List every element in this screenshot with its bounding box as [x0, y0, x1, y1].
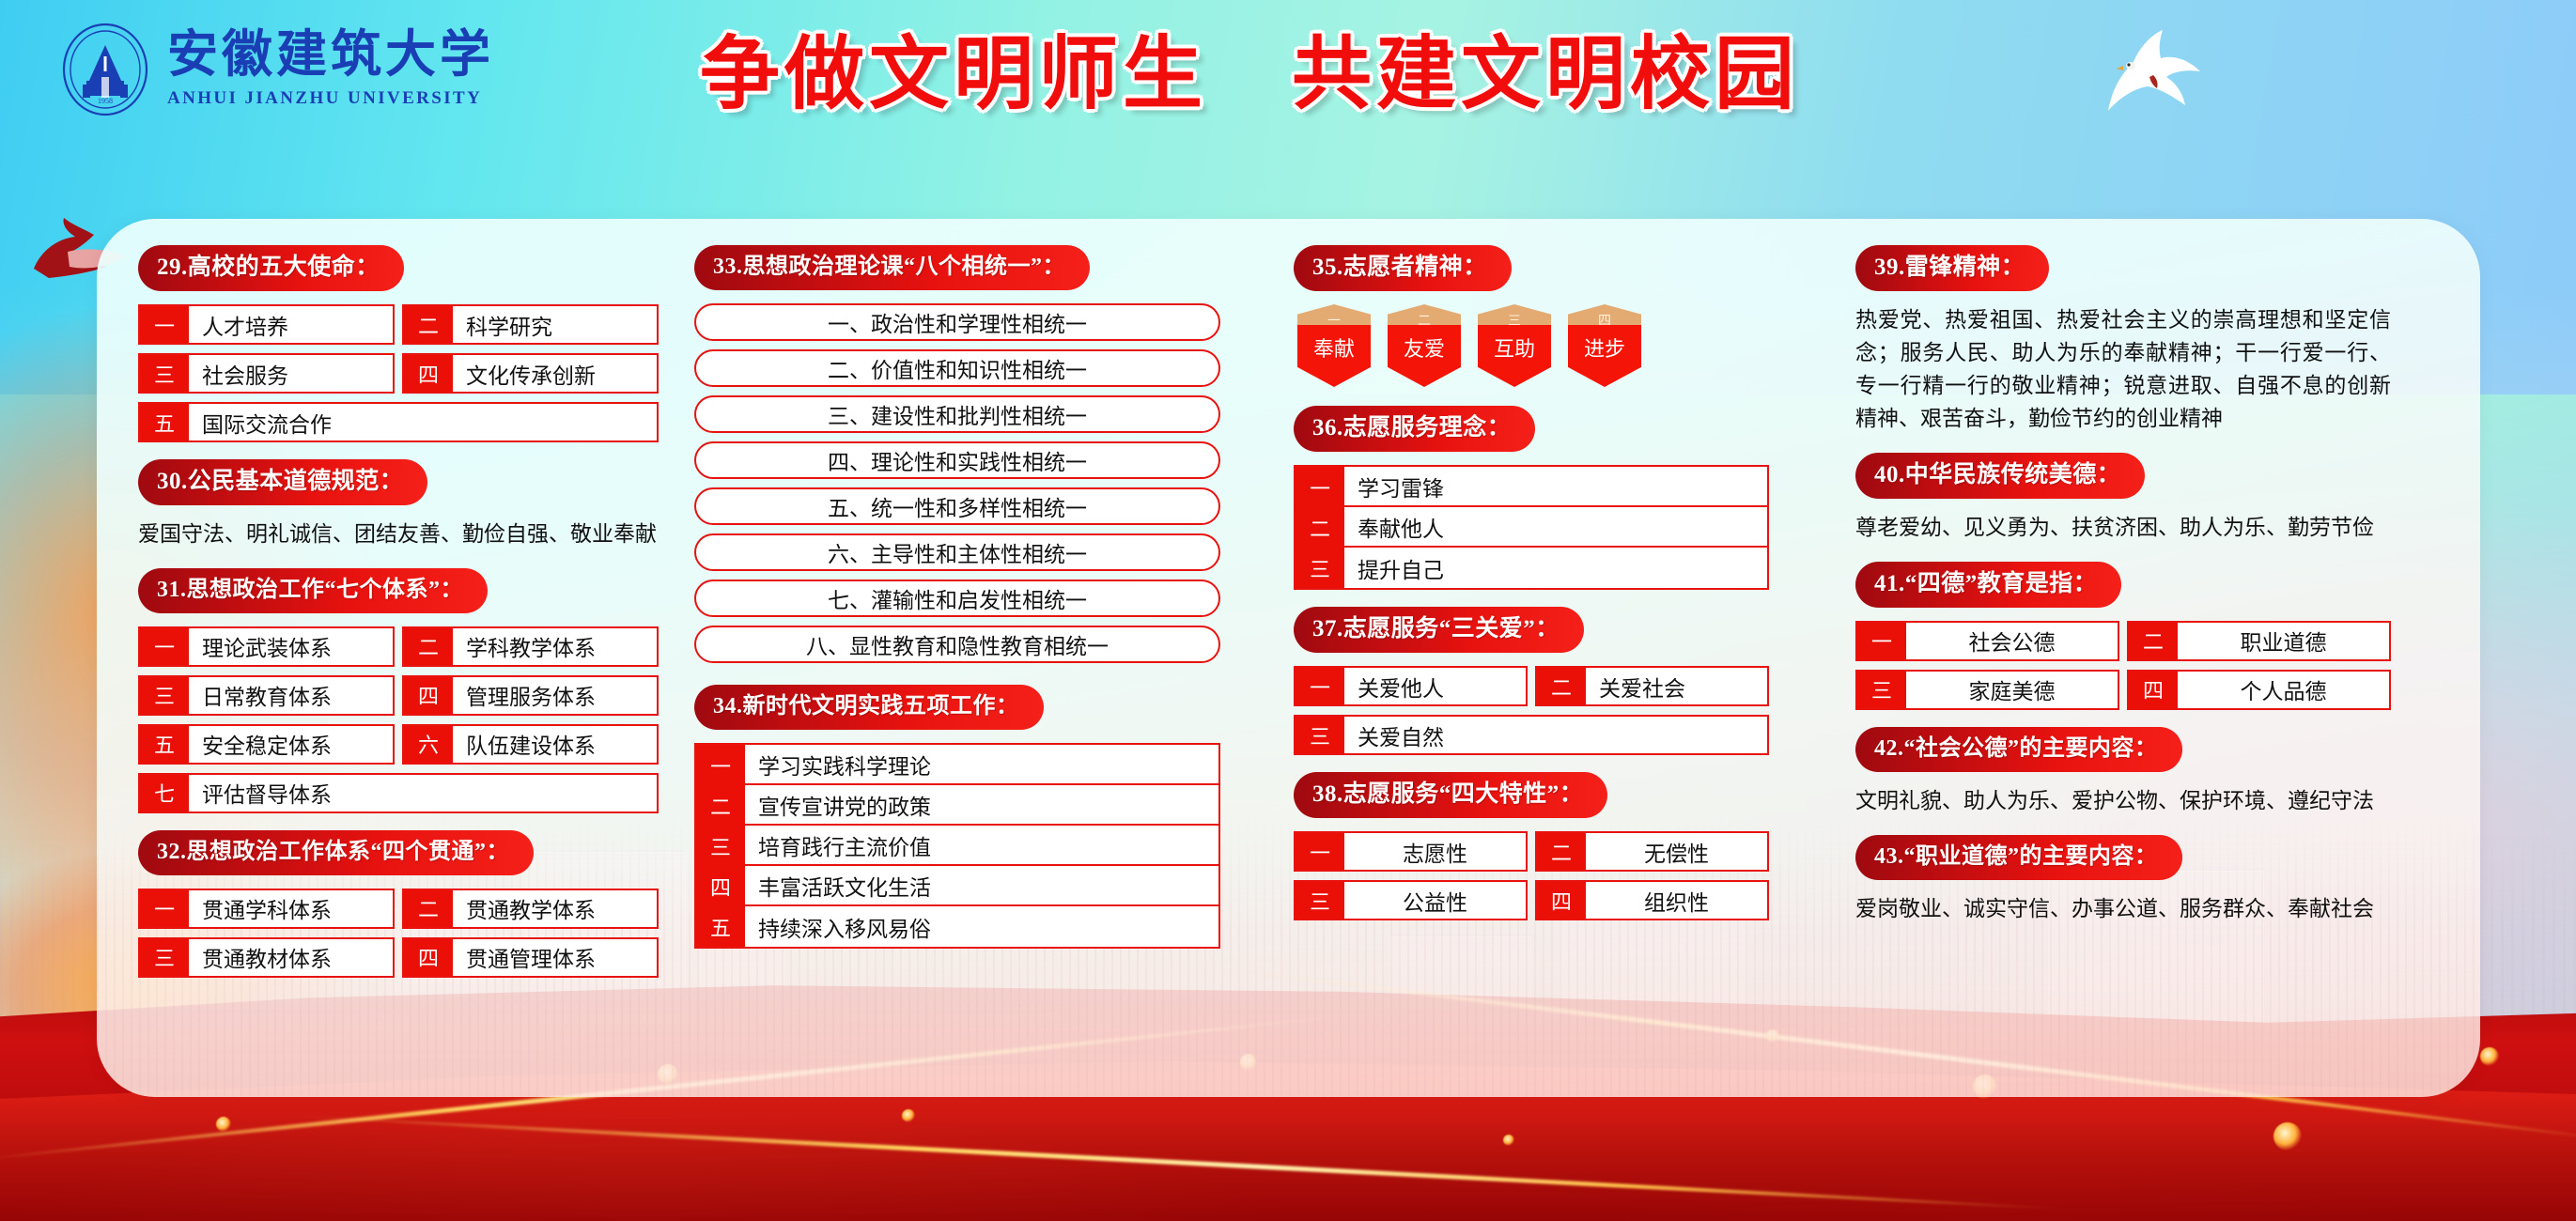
item-label: 组织性: [1586, 882, 1767, 919]
grid-item: 四组织性: [1535, 880, 1769, 920]
item-number: 二: [1537, 833, 1586, 870]
item-label: 关爱自然: [1344, 717, 1767, 753]
rounded-row: 一、政治性和学理性相统一: [694, 303, 1220, 341]
item-label: 评估督导体系: [189, 775, 657, 811]
university-logo: 1958: [58, 23, 152, 116]
item-number: 三: [1296, 548, 1344, 588]
item-number: 三: [140, 939, 189, 976]
grid-item: 四贯通管理体系: [402, 937, 659, 978]
section-header-40: 40.中华民族传统美德：: [1855, 453, 2145, 499]
item-label: 人才培养: [189, 306, 393, 343]
section-header-39: 39.雷锋精神：: [1855, 245, 2049, 291]
item-label: 关爱社会: [1586, 668, 1767, 704]
item-number: 一: [1296, 833, 1344, 870]
section-header-32: 32.思想政治工作体系“四个贯通”：: [138, 830, 534, 875]
stack-number-column: 一二三四五: [696, 745, 745, 947]
item-number: 一: [140, 306, 189, 343]
item-number: 四: [696, 866, 745, 906]
item-number: 一: [140, 628, 189, 665]
section-paragraph-42: 文明礼貌、助人为乐、爱护公物、保护环境、遵纪守法: [1855, 785, 2391, 818]
rounded-row: 六、主导性和主体性相统一: [694, 533, 1220, 571]
glow-dot: [2273, 1122, 2302, 1151]
section-header-34: 34.新时代文明实践五项工作：: [694, 685, 1044, 730]
grid-item: 五国际交流合作: [138, 402, 659, 442]
grid-item: 三日常教育体系: [138, 675, 395, 716]
item-label: 学科教学体系: [453, 628, 657, 665]
hexagon-label: 奉献: [1297, 325, 1371, 387]
item-label: 关爱他人: [1344, 668, 1526, 704]
item-label: 奉献他人: [1344, 507, 1767, 548]
grid-item: 一人才培养: [138, 304, 395, 345]
poster-stage: 1958 安徽建筑大学 ANHUI JIANZHU UNIVERSITY 争做文…: [0, 0, 2576, 1221]
hexagon-label: 友爱: [1388, 325, 1461, 387]
item-label: 国际交流合作: [189, 404, 657, 440]
section-grid-41: 一社会公德二职业道德三家庭美德四个人品德: [1855, 621, 2391, 710]
university-name-en: ANHUI JIANZHU UNIVERSITY: [167, 88, 494, 109]
section-paragraph-40: 尊老爱幼、见义勇为、扶贫济困、助人为乐、勤劳节俭: [1855, 512, 2391, 545]
section-header-29: 29.高校的五大使命：: [138, 245, 404, 291]
item-label: 理论武装体系: [189, 628, 393, 665]
section-header-41: 41.“四德”教育是指：: [1855, 562, 2121, 608]
section-grid-38: 一志愿性二无偿性三公益性四组织性: [1294, 831, 1769, 920]
hexagon-label: 进步: [1568, 325, 1641, 387]
grid-item: 七评估督导体系: [138, 773, 659, 813]
grid-item: 三社会服务: [138, 353, 395, 394]
hexagon-badge: 一奉献: [1297, 304, 1371, 387]
hexagon-badge: 二友爱: [1388, 304, 1461, 387]
grid-item: 三关爱自然: [1294, 715, 1769, 755]
item-number: 二: [404, 890, 453, 927]
section-header-30: 30.公民基本道德规范：: [138, 459, 427, 505]
hexagon-label: 互助: [1478, 325, 1551, 387]
item-label: 社会服务: [189, 355, 393, 392]
section-paragraph-39: 热爱党、热爱祖国、热爱社会主义的崇高理想和坚定信念；服务人民、助人为乐的奉献精神…: [1855, 304, 2391, 436]
grid-item: 二无偿性: [1535, 831, 1769, 872]
item-label: 志愿性: [1344, 833, 1526, 870]
column-3: 35.志愿者精神：一奉献二友爱三互助四进步36.志愿服务理念：一二三学习雷锋奉献…: [1239, 245, 1812, 1097]
item-number: 三: [140, 677, 189, 714]
item-label: 职业道德: [2178, 623, 2389, 659]
item-number: 一: [1296, 668, 1344, 704]
grid-item: 二学科教学体系: [402, 626, 659, 667]
item-number: 二: [1537, 668, 1586, 704]
stack-row-column: 学习实践科学理论宣传宣讲党的政策培育践行主流价值丰富活跃文化生活持续深入移风易俗: [745, 745, 1218, 947]
grid-item: 一理论武装体系: [138, 626, 395, 667]
item-number: 五: [140, 404, 189, 440]
glow-dot: [216, 1117, 231, 1132]
grid-item: 四文化传承创新: [402, 353, 659, 394]
item-label: 持续深入移风易俗: [745, 906, 1218, 947]
section-stack-34: 一二三四五学习实践科学理论宣传宣讲党的政策培育践行主流价值丰富活跃文化生活持续深…: [694, 743, 1220, 949]
hexagon-badge: 四进步: [1568, 304, 1641, 387]
stack-number-column: 一二三: [1296, 467, 1344, 588]
grid-item: 一贯通学科体系: [138, 889, 395, 929]
grid-item: 四个人品德: [2127, 670, 2391, 710]
section-header-33: 33.思想政治理论课“八个相统一”：: [694, 245, 1090, 290]
content-columns: 29.高校的五大使命：一人才培养二科学研究三社会服务四文化传承创新五国际交流合作…: [97, 219, 2480, 1097]
section-grid-32: 一贯通学科体系二贯通教学体系三贯通教材体系四贯通管理体系: [138, 889, 659, 978]
section-header-43: 43.“职业道德”的主要内容：: [1855, 835, 2182, 880]
grid-item: 一志愿性: [1294, 831, 1528, 872]
item-label: 个人品德: [2178, 672, 2389, 708]
item-number: 四: [1537, 882, 1586, 919]
item-label: 贯通学科体系: [189, 890, 393, 927]
item-label: 科学研究: [453, 306, 657, 343]
item-number: 三: [1296, 882, 1344, 919]
item-label: 公益性: [1344, 882, 1526, 919]
item-label: 贯通教学体系: [453, 890, 657, 927]
item-number: 一: [1857, 623, 1906, 659]
column-1: 29.高校的五大使命：一人才培养二科学研究三社会服务四文化传承创新五国际交流合作…: [121, 245, 675, 1097]
item-label: 学习实践科学理论: [745, 745, 1218, 785]
glow-dot: [902, 1109, 915, 1122]
grid-item: 五安全稳定体系: [138, 724, 395, 765]
page-title: 争做文明师生 共建文明校园: [700, 32, 1799, 118]
section-header-37: 37.志愿服务“三关爱”：: [1294, 607, 1584, 653]
spacer: [694, 672, 1220, 685]
section-stack-36: 一二三学习雷锋奉献他人提升自己: [1294, 465, 1769, 590]
rounded-row: 五、统一性和多样性相统一: [694, 487, 1220, 525]
item-label: 无偿性: [1586, 833, 1767, 870]
grid-item: 四管理服务体系: [402, 675, 659, 716]
section-paragraph-43: 爱岗敬业、诚实守信、办事公道、服务群众、奉献社会: [1855, 893, 2391, 926]
item-number: 三: [1857, 672, 1906, 708]
university-name-block: 安徽建筑大学 ANHUI JIANZHU UNIVERSITY: [167, 28, 494, 109]
item-label: 安全稳定体系: [189, 726, 393, 763]
university-name-cn: 安徽建筑大学: [167, 28, 494, 79]
grid-item: 二科学研究: [402, 304, 659, 345]
glow-dot: [1503, 1135, 1514, 1146]
rounded-row: 八、显性教育和隐性教育相统一: [694, 626, 1220, 663]
column-2: 33.思想政治理论课“八个相统一”：一、政治性和学理性相统一二、价值性和知识性相…: [675, 245, 1239, 1097]
section-header-42: 42.“社会公德”的主要内容：: [1855, 727, 2182, 772]
section-hexagons-35: 一奉献二友爱三互助四进步: [1294, 304, 1769, 387]
item-label: 贯通教材体系: [189, 939, 393, 976]
item-number: 五: [140, 726, 189, 763]
item-number: 二: [1296, 507, 1344, 548]
item-number: 二: [404, 306, 453, 343]
item-number: 二: [404, 628, 453, 665]
section-header-35: 35.志愿者精神：: [1294, 245, 1512, 291]
column-4: 39.雷锋精神：热爱党、热爱祖国、热爱社会主义的崇高理想和坚定信念；服务人民、助…: [1812, 245, 2413, 1097]
item-label: 家庭美德: [1906, 672, 2118, 708]
white-dove-icon: [2095, 28, 2236, 131]
grid-item: 一关爱他人: [1294, 666, 1528, 706]
item-label: 提升自己: [1344, 548, 1767, 588]
item-label: 队伍建设体系: [453, 726, 657, 763]
section-grid-37: 一关爱他人二关爱社会三关爱自然: [1294, 666, 1769, 755]
section-header-31: 31.思想政治工作“七个体系”：: [138, 568, 488, 613]
item-number: 四: [404, 355, 453, 392]
rounded-row: 二、价值性和知识性相统一: [694, 349, 1220, 387]
item-label: 贯通管理体系: [453, 939, 657, 976]
item-label: 文化传承创新: [453, 355, 657, 392]
grid-item: 二关爱社会: [1535, 666, 1769, 706]
item-label: 培育践行主流价值: [745, 826, 1218, 866]
item-label: 宣传宣讲党的政策: [745, 785, 1218, 826]
grid-item: 二贯通教学体系: [402, 889, 659, 929]
section-header-36: 36.志愿服务理念：: [1294, 406, 1535, 452]
item-number: 六: [404, 726, 453, 763]
item-number: 五: [696, 906, 745, 947]
section-grid-29: 一人才培养二科学研究三社会服务四文化传承创新五国际交流合作: [138, 304, 659, 442]
item-number: 三: [1296, 717, 1344, 753]
item-label: 社会公德: [1906, 623, 2118, 659]
item-number: 二: [2129, 623, 2178, 659]
section-header-38: 38.志愿服务“四大特性”：: [1294, 772, 1607, 818]
content-panel: 29.高校的五大使命：一人才培养二科学研究三社会服务四文化传承创新五国际交流合作…: [97, 219, 2480, 1097]
item-number: 四: [404, 939, 453, 976]
item-number: 二: [696, 785, 745, 826]
item-number: 四: [404, 677, 453, 714]
item-label: 管理服务体系: [453, 677, 657, 714]
rounded-row: 四、理论性和实践性相统一: [694, 441, 1220, 479]
grid-item: 三贯通教材体系: [138, 937, 395, 978]
grid-item: 三公益性: [1294, 880, 1528, 920]
section-paragraph-30: 爱国守法、明礼诚信、团结友善、勤俭自强、敬业奉献: [138, 518, 659, 551]
item-number: 三: [140, 355, 189, 392]
item-number: 三: [696, 826, 745, 866]
stack-row-column: 学习雷锋奉献他人提升自己: [1344, 467, 1767, 588]
item-number: 一: [1296, 467, 1344, 507]
item-number: 七: [140, 775, 189, 811]
item-number: 四: [2129, 672, 2178, 708]
item-number: 一: [696, 745, 745, 785]
item-number: 一: [140, 890, 189, 927]
section-grid-31: 一理论武装体系二学科教学体系三日常教育体系四管理服务体系五安全稳定体系六队伍建设…: [138, 626, 659, 813]
hexagon-badge: 三互助: [1478, 304, 1551, 387]
grid-item: 三家庭美德: [1855, 670, 2119, 710]
rounded-row: 七、灌输性和启发性相统一: [694, 580, 1220, 617]
item-label: 日常教育体系: [189, 677, 393, 714]
item-label: 丰富活跃文化生活: [745, 866, 1218, 906]
grid-item: 一社会公德: [1855, 621, 2119, 661]
grid-item: 二职业道德: [2127, 621, 2391, 661]
item-label: 学习雷锋: [1344, 467, 1767, 507]
glow-dot: [2480, 1047, 2499, 1066]
rounded-row: 三、建设性和批判性相统一: [694, 395, 1220, 433]
logo-year: 1958: [98, 97, 113, 105]
grid-item: 六队伍建设体系: [402, 724, 659, 765]
